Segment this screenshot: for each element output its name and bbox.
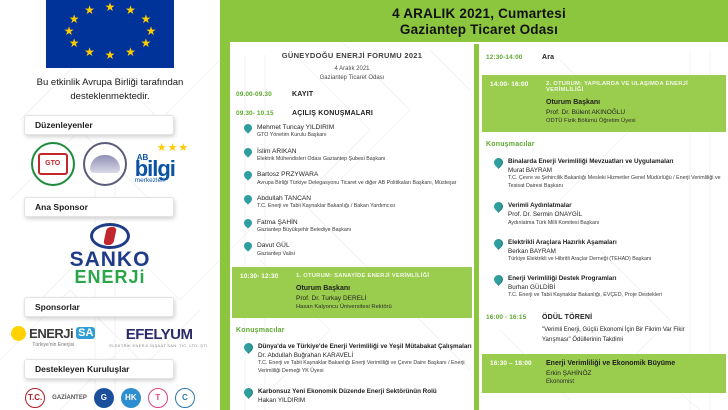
program-column-right: 12:30-14:00 Ara 14:00- 16:00 2. OTURUM: … — [482, 44, 726, 410]
column-divider — [474, 44, 479, 410]
speaker-name: Bartosz PRZYWARA — [257, 170, 456, 179]
session-2-box: 14:00- 16:00 2. OTURUM: YAPILARDA VE ULA… — [482, 75, 726, 132]
forum-subtitle: 4 Aralık 2021 Gaziantep Ticaret Odası — [232, 65, 472, 84]
speaker-role: Avrupa Birliği Türkiye Delegasyonu Ticar… — [257, 180, 456, 188]
closing-session-box: 16:30 – 18:00 Enerji Verimliliği ve Ekon… — [482, 354, 726, 393]
efelyum-logo: EFELYUM ELEKTRİK ENERJİ İNŞAAT SAN. TİC.… — [109, 326, 208, 348]
hasan-kalyoncu-universitesi-logo: HK — [121, 388, 141, 408]
organizer-logo-row: GTO ★★★ AB bilgi merkezleri — [8, 142, 212, 186]
forum-sub-venue: Gaziantep Ticaret Odası — [232, 74, 472, 83]
closing-title: Enerji Verimliliği ve Ekonomik Büyüme — [546, 360, 722, 367]
closing-speaker-name: Erkin ŞAHİNÖZ — [546, 370, 722, 377]
award-title: ÖDÜL TÖRENİ — [542, 314, 726, 321]
row-title: KAYIT — [292, 91, 472, 98]
supporters-label: Destekleyen Kuruluşlar — [24, 359, 174, 379]
session-1-title: 1. OTURUM: SANAYİDE ENERJİ VERİMLİLİĞİ — [296, 273, 468, 279]
eu-star: ★ — [140, 37, 151, 49]
session-1-chair-role: Hasan Kalyoncu Üniversitesi Rektörü — [296, 303, 468, 311]
ab-bilgi-merkezleri-text: merkezleri — [135, 178, 165, 185]
session-2-speakers-label: Konuşmacılar — [482, 141, 726, 148]
emo-logo-mark — [90, 155, 120, 173]
eu-flag: ★ ★ ★ ★ ★ ★ ★ ★ ★ ★ ★ ★ — [46, 0, 174, 68]
eu-star: ★ — [105, 1, 116, 13]
leaf-bullet-icon — [492, 237, 505, 250]
speaker-role: Gaziantep Büyükşehir Belediye Başkanı — [257, 227, 351, 235]
emo-gaziantep-logo — [83, 142, 127, 186]
teknopark-logo: T — [148, 388, 168, 408]
talk-title: Karbonsuz Yeni Ekonomik Düzende Enerji S… — [258, 387, 472, 396]
session-2-chair-label: Oturum Başkanı — [546, 99, 722, 106]
sun-icon — [11, 326, 26, 341]
speaker-name: Prof. Dr. Sermin ONAYGİL — [508, 210, 726, 219]
eu-star: ★ — [125, 4, 136, 16]
speaker-name: Abdullah TANCAN — [257, 194, 395, 203]
sponsors-label: Sponsorlar — [24, 297, 174, 317]
talk-title: Binalarda Enerji Verimliliği Mevzuatları… — [508, 157, 726, 166]
gto-logo-text: GTO — [38, 153, 68, 175]
poster-header: 4 ARALIK 2021, Cumartesi Gaziantep Ticar… — [230, 0, 728, 42]
leaf-bullet-icon — [242, 341, 255, 354]
gaziantep-universitesi-logo: G — [94, 388, 114, 408]
gaziantep-buyuksehir-logo: GAZİANTEP — [52, 395, 87, 401]
list-item: Mehmet Tuncay YILDIRIM GTO Yönetim Kurul… — [232, 123, 472, 140]
efelyum-tagline: ELEKTRİK ENERJİ İNŞAAT SAN. TİC. LTD. ŞT… — [109, 343, 208, 348]
program-row-award: 16:00 - 16:15 ÖDÜL TÖRENİ "Verimli Enerj… — [482, 314, 726, 345]
leaf-bullet-icon — [242, 170, 253, 181]
break-title: Ara — [542, 54, 726, 61]
speaker-role: T.C. Enerji ve Tabii Kaynaklar Bakanlığı… — [257, 203, 395, 211]
list-item: Fatma ŞAHİN Gaziantep Büyükşehir Belediy… — [232, 218, 472, 235]
list-item: Enerji Verimliliği Destek Programları Bu… — [482, 274, 726, 300]
list-item: Dünya'da ve Türkiye'de Enerji Verimliliğ… — [232, 342, 472, 376]
sponsor-logo-row: ENERJi SA Türkiye'nin Enerjisi EFELYUM E… — [8, 326, 212, 348]
talk-title: Dünya'da ve Türkiye'de Enerji Verimliliğ… — [258, 342, 472, 351]
enerji-word: ENERJi — [74, 268, 145, 286]
leaf-bullet-icon — [242, 241, 253, 252]
gto-logo: GTO — [31, 142, 75, 186]
session-1-chair-label: Oturum Başkanı — [296, 285, 468, 292]
speaker-role: Aydınlatma Türk Milli Komitesi Başkanı — [508, 220, 726, 228]
leaf-bullet-icon — [242, 386, 255, 399]
award-subtitle-line2: Yarışması" Ödüllerinin Takdimi — [542, 335, 726, 345]
forum-sub-date: 4 Aralık 2021 — [232, 65, 472, 74]
list-item: Binalarda Enerji Verimliliği Mevzuatları… — [482, 157, 726, 191]
sanko-enerji-logo: SANKO ENERJi — [70, 223, 151, 286]
list-item: İslim ARIKAN Elektrik Mühendisleri Odası… — [232, 147, 472, 164]
session-1-speakers-label: Konuşmacılar — [232, 327, 472, 334]
list-item: Bartosz PRZYWARA Avrupa Birliği Türkiye … — [232, 170, 472, 187]
main-sponsor-label: Ana Sponsor — [24, 197, 174, 217]
session-2-chair-name: Prof. Dr. Bülent AKINOĞLU — [546, 108, 722, 117]
closing-speaker-role: Ekonomist — [546, 379, 722, 385]
award-time: 16:00 - 16:15 — [482, 314, 542, 345]
talk-title: Verimli Aydınlatmalar — [508, 201, 726, 210]
supporter-logo-row: T.C. GAZİANTEP G HK T C — [8, 388, 212, 408]
eu-support-caption: Bu etkinlik Avrupa Birliği tarafından de… — [23, 76, 198, 104]
list-item: Abdullah TANCAN T.C. Enerji ve Tabii Kay… — [232, 194, 472, 211]
session-1-chair-name: Prof. Dr. Turkay DERELİ — [296, 294, 468, 303]
leaf-bullet-icon — [242, 146, 253, 157]
leaf-bullet-icon — [242, 122, 253, 133]
speaker-name: Fatma ŞAHİN — [257, 218, 351, 227]
program-row-kayit: 09.00-09.30 KAYIT — [232, 91, 472, 98]
row-title: AÇILIŞ KONUŞMALARI — [292, 110, 472, 117]
session-1-time: 10:30- 12:30 — [236, 273, 296, 311]
program-row-acilis: 09.30- 10.15 AÇILIŞ KONUŞMALARI — [232, 110, 472, 117]
gaziantep-ticaret-odasi-logo: C — [175, 388, 195, 408]
speaker-role: T.C. Enerji ve Tabii Kaynaklar Bakanlığı… — [508, 292, 726, 300]
speaker-name: İslim ARIKAN — [257, 147, 385, 156]
enerjisa-tagline: Türkiye'nin Enerjisi — [32, 342, 74, 348]
speaker-name: Mehmet Tuncay YILDIRIM — [257, 123, 334, 132]
award-subtitle-line1: "Verimli Enerji, Güçlü Ekonomi İçin Bir … — [542, 325, 726, 335]
row-time: 09.00-09.30 — [232, 91, 292, 98]
speaker-name: Dr. Abdullah Buğrahan KARAVELİ — [258, 351, 472, 360]
break-time: 12:30-14:00 — [482, 54, 542, 61]
efelyum-text: EFELYUM — [126, 326, 193, 343]
speaker-role: T.C. Çevre ve Şehircilik Bakanlığı Mesle… — [508, 175, 726, 191]
list-item: Verimli Aydınlatmalar Prof. Dr. Sermin O… — [482, 201, 726, 227]
header-venue: Gaziantep Ticaret Odası — [400, 22, 558, 37]
sanko-logo-mark — [90, 223, 130, 249]
speaker-role: Türkiye Elektrikli ve Hibritli Araçlar D… — [508, 256, 726, 264]
session-2-chair-role: ODTÜ Fizik Bölümü Öğretim Üyesi — [546, 117, 722, 125]
row-time: 09.30- 10.15 — [232, 110, 292, 117]
event-poster: ★ ★ ★ ★ ★ ★ ★ ★ ★ ★ ★ ★ Bu etkinlik Avru… — [0, 0, 728, 410]
leaf-bullet-icon — [492, 200, 505, 213]
leaf-bullet-icon — [492, 156, 505, 169]
eu-star: ★ — [84, 4, 95, 16]
program-column-left: GÜNEYDOĞU ENERJİ FORUMU 2021 4 Aralık 20… — [232, 44, 472, 410]
organizers-label: Düzenleyenler — [24, 115, 174, 135]
saglik-bakanligi-logo: T.C. — [25, 388, 45, 408]
speaker-role: T.C. Enerji ve Tabii Kaynaklar Bakanlığı… — [258, 360, 472, 376]
list-item: Elektrikli Araçlara Hazırlık Aşamaları B… — [482, 238, 726, 264]
ab-bilgi-stars: ★★★ — [157, 143, 190, 154]
leaf-bullet-icon — [242, 217, 253, 228]
session-1-box: 10:30- 12:30 1. OTURUM: SANAYİDE ENERJİ … — [232, 267, 472, 318]
green-left-strip — [220, 0, 230, 410]
forum-title: GÜNEYDOĞU ENERJİ FORUMU 2021 — [232, 51, 472, 60]
leaf-bullet-icon — [242, 193, 253, 204]
eu-star: ★ — [125, 46, 136, 58]
header-date: 4 ARALIK 2021, Cumartesi — [392, 6, 566, 21]
enerjisa-sa-badge: SA — [76, 327, 95, 339]
talk-title: Enerji Verimliliği Destek Programları — [508, 274, 726, 283]
opening-speaker-list: Mehmet Tuncay YILDIRIM GTO Yönetim Kurul… — [232, 123, 472, 258]
sponsor-sidebar: ★ ★ ★ ★ ★ ★ ★ ★ ★ ★ ★ ★ Bu etkinlik Avru… — [0, 0, 220, 410]
speaker-role: Elektrik Mühendisleri Odası Gaziantep Şu… — [257, 156, 385, 164]
speaker-name: Burhan GÜLDİBİ — [508, 283, 726, 292]
speaker-name: Murat BAYRAM — [508, 166, 726, 175]
list-item: Karbonsuz Yeni Ekonomik Düzende Enerji S… — [232, 387, 472, 405]
eu-star: ★ — [69, 37, 80, 49]
eu-star: ★ — [105, 49, 116, 61]
eu-star: ★ — [64, 25, 75, 37]
list-item: Davut GÜL Gaziantep Valisi — [232, 241, 472, 258]
eu-star: ★ — [84, 46, 95, 58]
enerjisa-text: ENERJi — [29, 326, 73, 341]
session-2-time: 14:00- 16:00 — [486, 81, 546, 125]
session-2-title: 2. OTURUM: YAPILARDA VE ULAŞIMDA ENERJİ … — [546, 81, 722, 93]
eu-star: ★ — [69, 13, 80, 25]
enerjisa-logo: ENERJi SA Türkiye'nin Enerjisi — [11, 326, 95, 348]
enerjisa-logo-top: ENERJi SA — [11, 326, 95, 341]
speaker-name: Berkan BAYRAM — [508, 247, 726, 256]
program-row-break: 12:30-14:00 Ara — [482, 54, 726, 61]
talk-title: Elektrikli Araçlara Hazırlık Aşamaları — [508, 238, 726, 247]
speaker-name: Hakan YILDIRIM — [258, 396, 472, 405]
speaker-role: Gaziantep Valisi — [257, 251, 295, 259]
closing-time: 16:30 – 18:00 — [486, 360, 546, 385]
leaf-bullet-icon — [492, 273, 505, 286]
speaker-name: Davut GÜL — [257, 241, 295, 250]
speaker-role: GTO Yönetim Kurulu Başkanı — [257, 132, 334, 140]
ab-bilgi-merkezleri-logo: ★★★ AB bilgi merkezleri — [135, 143, 190, 185]
